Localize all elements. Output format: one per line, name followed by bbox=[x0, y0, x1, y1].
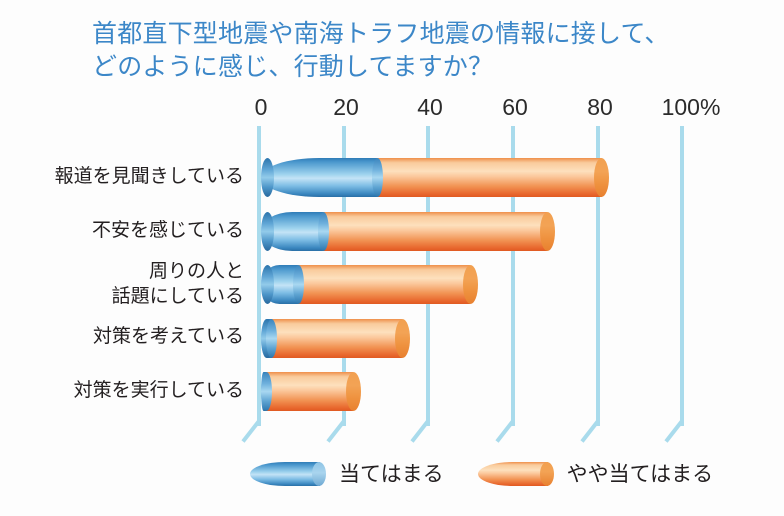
bar-right-cap bbox=[594, 158, 609, 197]
legend-item-somewhat-applies[interactable]: やや当てはまる bbox=[478, 462, 714, 486]
chart-canvas: 首都直下型地震や南海トラフ地震の情報に接して、 どのように感じ、行動してますか？… bbox=[0, 0, 784, 516]
xtick-label-100: 100% bbox=[662, 96, 721, 119]
bar-right-cap bbox=[463, 265, 478, 304]
bar-segment-somewhat-applies bbox=[272, 319, 402, 358]
gridline-100 bbox=[677, 126, 691, 448]
xtick-label-40: 40 bbox=[417, 96, 443, 119]
bar-segment-applies bbox=[261, 158, 377, 197]
legend-swatch-endcap bbox=[312, 462, 326, 486]
category-label-3: 対策を考えている bbox=[34, 324, 244, 349]
legend-swatch-body bbox=[478, 462, 548, 486]
xtick-label-80: 80 bbox=[587, 96, 613, 119]
legend: 当てはまる やや当てはまる bbox=[250, 462, 713, 486]
xtick-label-60: 60 bbox=[502, 96, 528, 119]
category-label-0: 報道を見聞きしている bbox=[34, 164, 244, 189]
gridline-foot bbox=[410, 420, 429, 443]
legend-swatch-blue-icon bbox=[250, 462, 328, 486]
bar-segment-somewhat-applies bbox=[323, 212, 547, 251]
bar-segment-seam bbox=[293, 265, 304, 304]
legend-swatch-body bbox=[250, 462, 320, 486]
bar-right-cap bbox=[395, 319, 410, 358]
bar-segment-seam bbox=[261, 372, 272, 411]
legend-item-applies[interactable]: 当てはまる bbox=[250, 462, 444, 486]
legend-label-applies: 当てはまる bbox=[339, 464, 444, 485]
category-label-4: 対策を実行している bbox=[34, 378, 244, 403]
bar-segment-somewhat-applies bbox=[266, 372, 353, 411]
gridline-foot bbox=[495, 420, 514, 443]
gridline-stem bbox=[680, 126, 684, 426]
bar-left-cap bbox=[261, 158, 274, 197]
gridline-foot bbox=[580, 420, 599, 443]
legend-swatch-orange-icon bbox=[478, 462, 556, 486]
plot-area: 0 20 40 60 80 100% 報道を見聞きしている 不安を感じている 周… bbox=[0, 0, 784, 516]
bar-right-cap bbox=[346, 372, 361, 411]
bar-segment-seam bbox=[372, 158, 383, 197]
legend-label-somewhat-applies: やや当てはまる bbox=[567, 464, 714, 485]
category-label-2: 周りの人と 話題にしている bbox=[34, 259, 244, 309]
gridline-foot bbox=[326, 420, 345, 443]
bar-segment-seam bbox=[318, 212, 329, 251]
bar-segment-somewhat-applies bbox=[377, 158, 601, 197]
bar-segment-somewhat-applies bbox=[298, 265, 470, 304]
xtick-label-0: 0 bbox=[255, 96, 268, 119]
bar-left-cap bbox=[261, 265, 274, 304]
gridline-foot bbox=[241, 420, 260, 443]
legend-swatch-endcap bbox=[540, 462, 554, 486]
bar-right-cap bbox=[540, 212, 555, 251]
category-label-1: 不安を感じている bbox=[34, 218, 244, 243]
gridline-foot bbox=[664, 420, 683, 443]
bar-left-cap bbox=[261, 212, 274, 251]
xtick-label-20: 20 bbox=[333, 96, 359, 119]
